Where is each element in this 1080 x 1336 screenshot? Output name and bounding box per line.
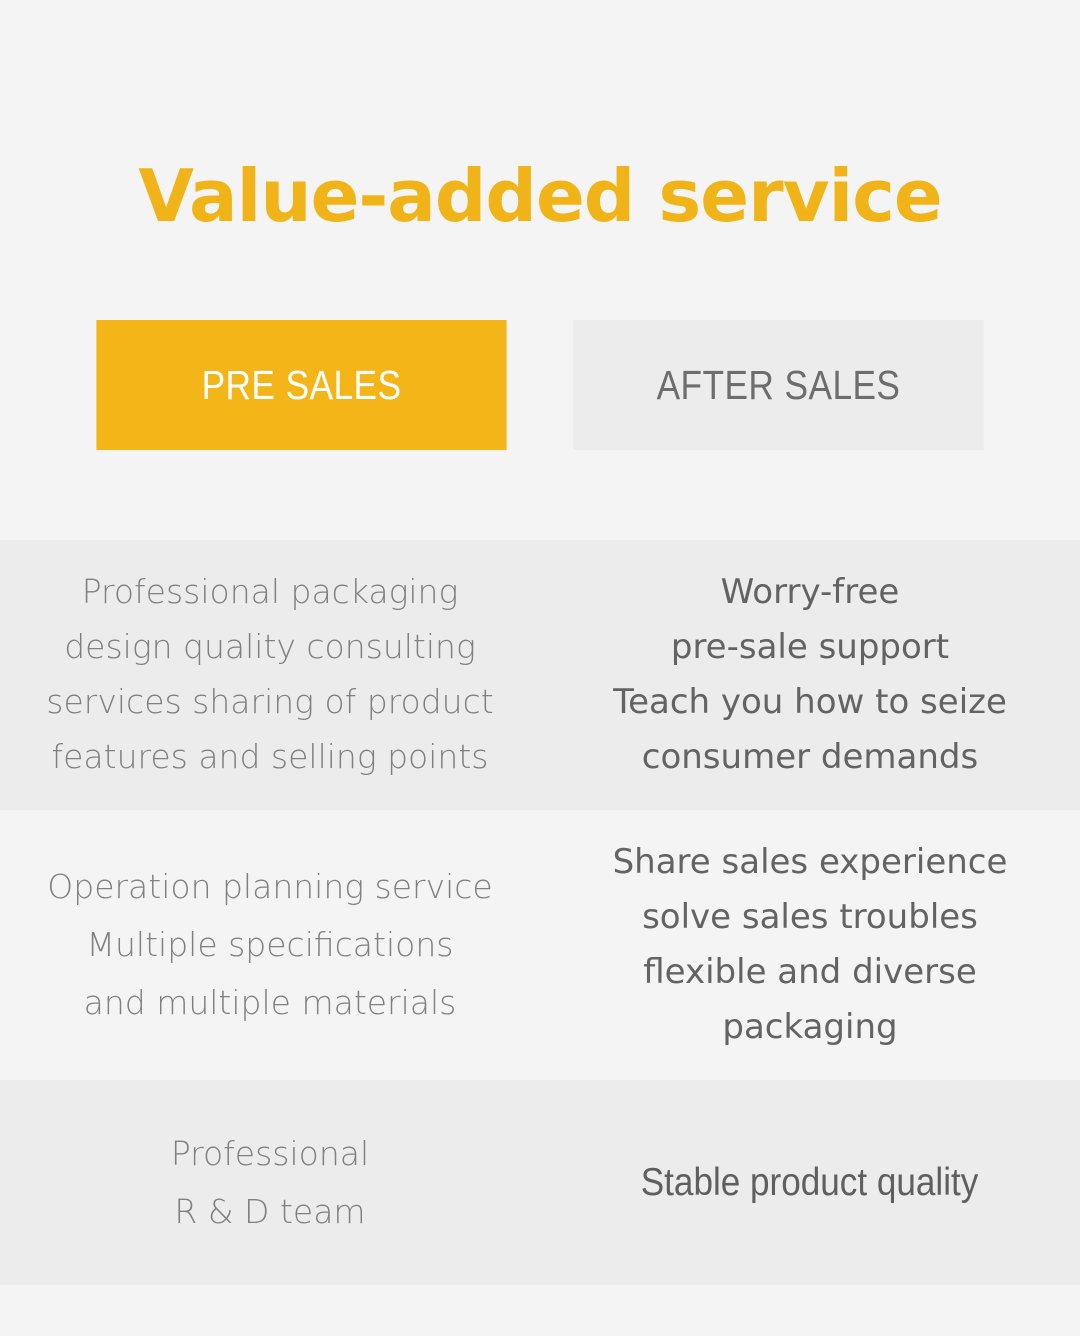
pre-sales-text: Professional R & D team <box>171 1125 369 1241</box>
text-line: and multiple materials <box>47 974 492 1032</box>
text-line: consumer demands <box>613 730 1007 785</box>
text-line: Professional packaging <box>46 565 493 620</box>
text-line: pre-sale support <box>613 620 1007 675</box>
text-line: Teach you how to seize <box>613 675 1007 730</box>
text-line: solve sales troubles <box>613 890 1008 945</box>
content-row: Operation planning service Multiple spec… <box>0 810 1080 1080</box>
after-sales-text: Stable product quality <box>641 1151 979 1214</box>
pre-sales-text: Operation planning service Multiple spec… <box>47 858 492 1031</box>
after-sales-text: Share sales experience solve sales troub… <box>613 835 1008 1055</box>
tab-bar: PRE SALES AFTER SALES <box>63 320 1017 450</box>
text-line: flexible and diverse <box>613 945 1008 1000</box>
pre-sales-text: Professional packaging design quality co… <box>46 565 493 784</box>
cell-pre-sales: Professional packaging design quality co… <box>0 540 540 810</box>
cell-pre-sales: Professional R & D team <box>0 1080 540 1285</box>
cell-after-sales: Worry-free pre-sale support Teach you ho… <box>540 540 1080 810</box>
cell-after-sales: Share sales experience solve sales troub… <box>540 810 1080 1080</box>
cell-after-sales: Stable product quality <box>540 1080 1080 1285</box>
text-line: packaging <box>613 1000 1008 1055</box>
text-line: Multiple specifications <box>47 916 492 974</box>
text-line: Operation planning service <box>47 858 492 916</box>
page-title: Value-added service <box>0 160 1080 232</box>
text-line: Professional <box>171 1125 369 1183</box>
after-sales-text: Worry-free pre-sale support Teach you ho… <box>613 565 1007 785</box>
tab-pre-sales[interactable]: PRE SALES <box>96 320 506 450</box>
tab-pre-sales-label: PRE SALES <box>202 362 402 409</box>
cell-pre-sales: Operation planning service Multiple spec… <box>0 810 540 1080</box>
text-line: Worry-free <box>613 565 1007 620</box>
text-line: features and selling points <box>46 730 493 785</box>
tab-after-sales[interactable]: AFTER SALES <box>573 320 983 450</box>
tab-after-sales-label: AFTER SALES <box>657 362 901 409</box>
text-line: services sharing of product <box>46 675 493 730</box>
text-line: Share sales experience <box>613 835 1008 890</box>
content-row: Professional R & D team Stable product q… <box>0 1080 1080 1285</box>
text-line: R & D team <box>171 1183 369 1241</box>
text-line: Stable product quality <box>641 1151 979 1214</box>
content-row: Professional packaging design quality co… <box>0 540 1080 810</box>
text-line: design quality consulting <box>46 620 493 675</box>
